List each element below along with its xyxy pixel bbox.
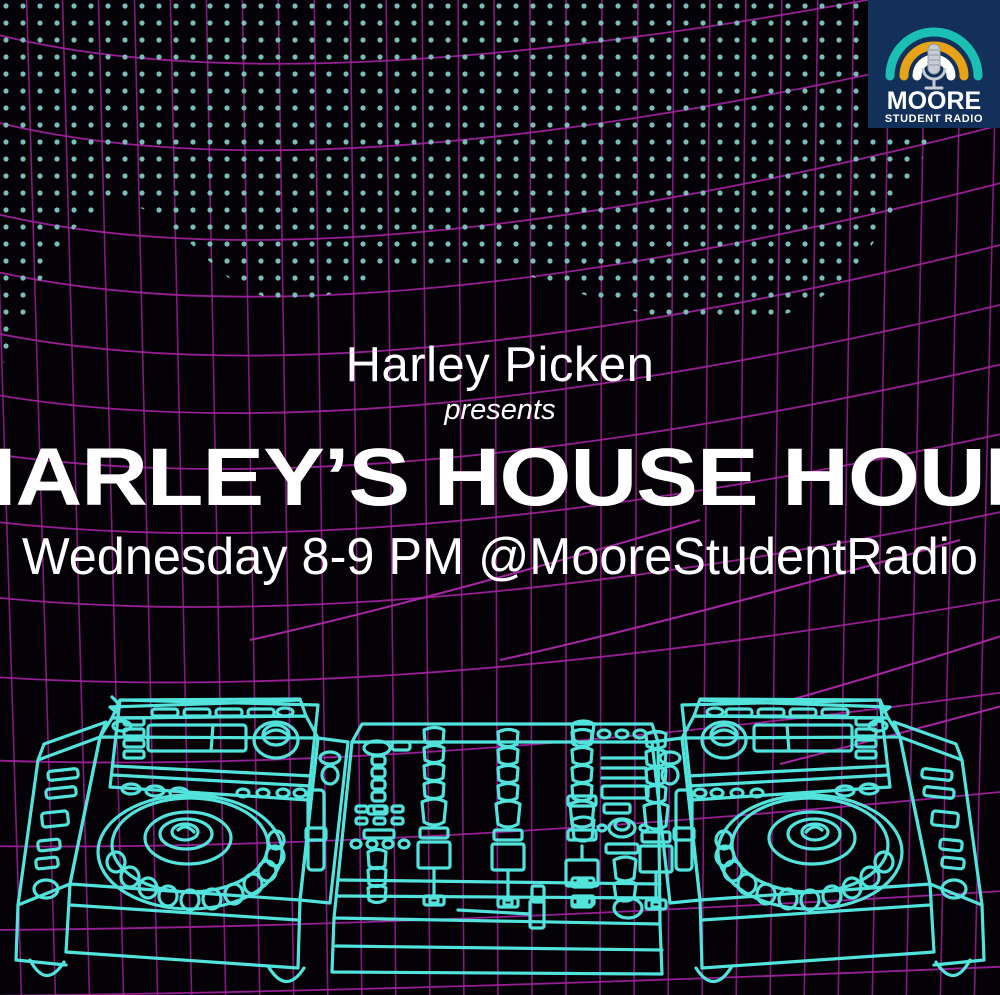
schedule-line: Wednesday 8-9 PM @MooreStudentRadio (15, 531, 985, 583)
station-logo-badge: MOORE STUDENT RADIO (868, 0, 1000, 128)
station-tagline: STUDENT RADIO (885, 113, 983, 125)
show-title: HARLEY’S HOUSE HOUR (0, 437, 1000, 519)
presents-label: presents (0, 396, 1000, 425)
poster-canvas: Harley Picken presents HARLEY’S HOUSE HO… (0, 0, 1000, 995)
presenter-name: Harley Picken (0, 341, 1000, 390)
moore-student-radio-logo: MOORE STUDENT RADIO (868, 0, 1000, 128)
cdj-deck-right (652, 699, 984, 982)
station-name: MOORE (887, 87, 981, 115)
cdj-deck-left (16, 697, 348, 982)
dj-mixer-center (332, 721, 672, 974)
